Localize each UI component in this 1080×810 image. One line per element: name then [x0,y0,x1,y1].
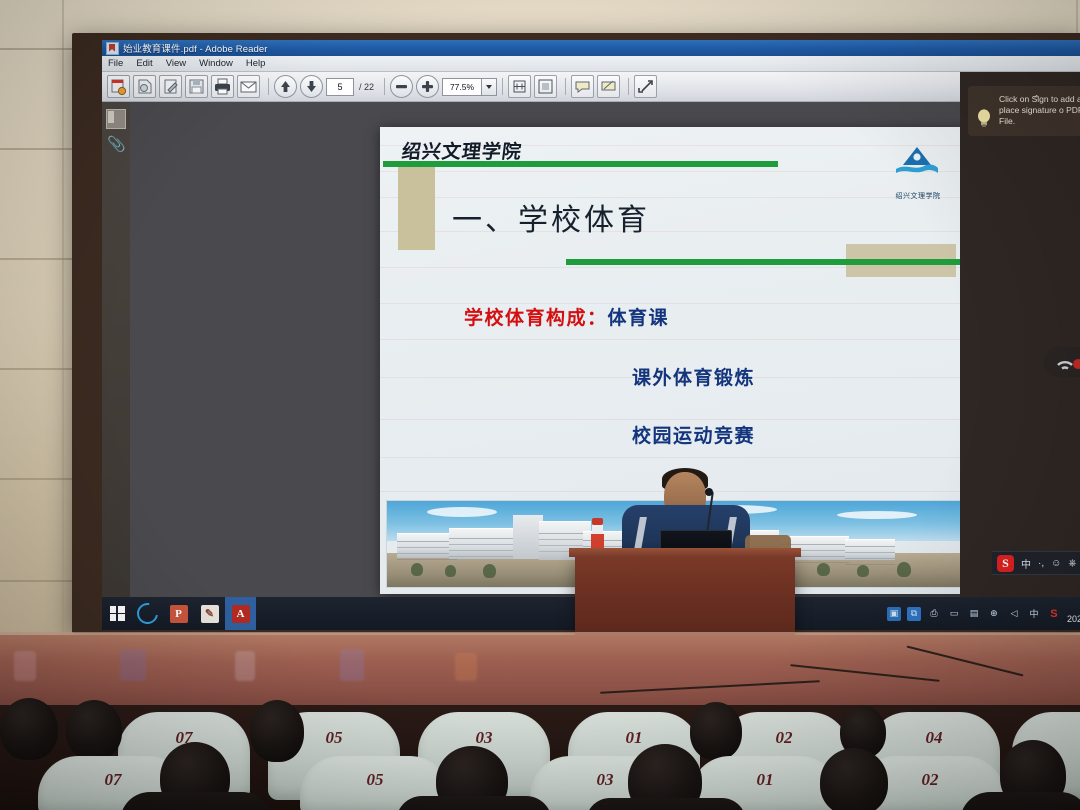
audience-shoulders [960,792,1080,810]
previous-page-button[interactable] [274,75,297,98]
ime-voice-icon[interactable]: ⎈ [1068,558,1076,569]
microphone-head [705,488,713,496]
page-total-label: / 22 [359,82,374,92]
seat-number: 01 [690,770,840,790]
window-title: 始业教育课件.pdf - Adobe Reader [123,41,268,55]
attachments-icon[interactable]: 📎 [107,136,125,154]
slide-title: 一、学校体育 [452,195,650,239]
audience-shoulders [120,792,272,810]
audience-shoulders [586,798,746,810]
university-logo: 绍兴文理学院 [882,145,954,201]
sign-panel: ⌃ Click on Sign to add and place signatu… [960,72,1080,630]
windows-logo-icon [110,606,125,621]
zoom-level-input[interactable]: 77.5% [442,78,482,96]
taskbar-clock[interactable]: 9:05 2020/9/2 [1067,603,1080,625]
ime-emoji-icon[interactable]: ☺ [1051,558,1061,569]
menu-item-edit[interactable]: Edit [136,58,152,69]
audience-shoulders [396,796,552,810]
printer-icon[interactable]: ⎙ [927,607,941,621]
logo-text: 绍兴文理学院 [882,191,954,201]
slide-body-label-1: 学校体育构成： [464,308,608,329]
adobe-reader-icon [106,42,119,55]
folder-icon[interactable]: ▤ [967,607,981,621]
page-thumbnails-icon[interactable] [106,109,126,129]
edit-pdf-icon[interactable] [159,75,182,98]
menu-item-file[interactable]: File [108,58,123,69]
chat-icon[interactable]: ▭ [947,607,961,621]
edge-icon [133,599,162,628]
stage-front-panel [0,635,1080,710]
slide-body-value-2: 课外体育锻炼 [632,363,755,390]
menu-item-help[interactable]: Help [246,58,266,69]
fullscreen-icon[interactable] [634,75,657,98]
print-icon[interactable] [211,75,234,98]
network-icon[interactable]: ⊕ [987,607,1001,621]
save-icon[interactable] [185,75,208,98]
taskbar-item-adobe-reader[interactable]: A [225,597,256,630]
fit-width-icon[interactable] [508,75,531,98]
audience-head [250,700,304,762]
highlight-icon[interactable] [597,75,620,98]
seat-number: 01 [568,728,700,748]
slide-brand-title: 绍兴文理学院 [400,137,523,164]
ime-comma-icon[interactable]: ·, [1038,558,1044,569]
slide-body-value-3: 校园运动竞赛 [632,421,755,448]
audience-head [820,748,888,810]
taskbar-item-editor[interactable]: ✎ [194,597,225,630]
lecture-hall-photo: 始业教育课件.pdf - Adobe Reader File Edit View… [0,0,1080,810]
seat-number: 05 [300,770,450,790]
zoom-dropdown-icon[interactable] [482,78,497,96]
seat-number: 03 [418,728,550,748]
fit-page-icon[interactable] [534,75,557,98]
decor-beige-block-left [398,163,435,250]
sogou-logo-icon[interactable]: S [997,555,1014,572]
projection-screen-bezel: 始业教育课件.pdf - Adobe Reader File Edit View… [72,33,1080,633]
menu-item-window[interactable]: Window [199,58,233,69]
toolbar: 5 / 22 77.5% [102,72,1080,102]
menu-item-view[interactable]: View [166,58,186,69]
sign-tooltip: ⌃ Click on Sign to add and place signatu… [968,86,1080,136]
zoom-out-button[interactable] [390,75,413,98]
sogou-icon[interactable]: S [1047,607,1061,621]
taskbar-item-powerpoint[interactable]: P [163,597,194,630]
open-file-icon[interactable] [107,75,130,98]
volume-icon[interactable]: ◁ [1007,607,1021,621]
audience-head [66,700,122,760]
security-shield-icon[interactable]: ⧉ [907,607,921,621]
chevron-up-icon: ⌃ [1032,93,1041,106]
editor-icon: ✎ [201,605,219,623]
screenshot-icon[interactable]: ▣ [887,607,901,621]
clock-date: 2020/9/2 [1067,614,1080,624]
taskbar-item-edge[interactable] [132,597,163,630]
ime-mode-icon[interactable]: 中 [1027,607,1041,621]
start-button[interactable] [102,597,132,630]
zoom-in-button[interactable] [416,75,439,98]
navigation-rail: 📎 [102,102,131,630]
page-number-input[interactable]: 5 [326,78,354,96]
slide-body-value-1: 体育课 [608,308,670,329]
comment-icon[interactable] [571,75,594,98]
audience-head [690,702,742,760]
logo-mark-icon [894,145,940,175]
adobe-reader-icon: A [232,605,250,623]
lightbulb-icon [976,108,992,128]
seat-number: 04 [868,728,1000,748]
audience-head [0,698,58,760]
bottle-cap [592,518,603,525]
wifi-indicator [1044,347,1080,377]
ime-mode-label[interactable]: 中 [1021,556,1031,571]
podium-top [569,548,801,557]
menu-bar: File Edit View Window Help [102,56,1080,72]
decor-green-bar-bottom [566,259,966,265]
sogou-ime-bar[interactable]: S 中 ·, ☺ ⎈ ▤ [992,551,1080,575]
window-title-bar: 始业教育课件.pdf - Adobe Reader [102,40,1080,56]
email-icon[interactable] [237,75,260,98]
system-tray: ▣ ⧉ ⎙ ▭ ▤ ⊕ ◁ 中 S 9:05 2020/9/2 [887,603,1080,625]
powerpoint-icon: P [170,605,188,623]
next-page-button[interactable] [300,75,323,98]
save-copy-icon[interactable] [133,75,156,98]
